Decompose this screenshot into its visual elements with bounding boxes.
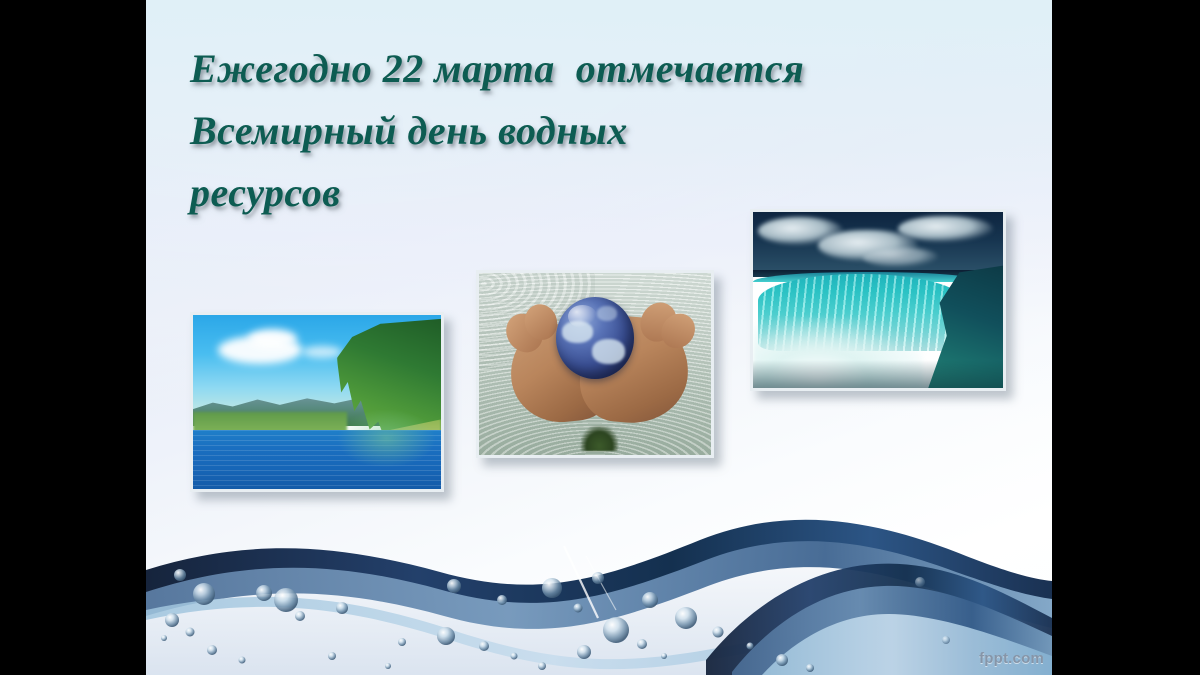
photo-waterfall xyxy=(750,209,1006,391)
title-line-1: Ежегодно 22 марта отмечается xyxy=(190,38,1000,100)
storm-cloud-icon xyxy=(863,247,938,266)
fppt-watermark: fppt.com xyxy=(979,650,1044,667)
globe-icon xyxy=(556,297,635,379)
letterbox-bar-left xyxy=(0,0,146,675)
photo-waterfall-artwork xyxy=(753,212,1003,388)
globe-landmass xyxy=(597,306,618,321)
photo-lake-artwork xyxy=(193,315,441,489)
slide-title: Ежегодно 22 марта отмечается Всемирный д… xyxy=(190,38,1000,224)
slide-canvas: Ежегодно 22 марта отмечается Всемирный д… xyxy=(146,0,1052,675)
sprout-icon xyxy=(581,426,618,451)
lake-cloud-icon xyxy=(248,329,298,348)
title-line-2: Всемирный день водных xyxy=(190,100,1000,162)
photo-hands-globe-artwork xyxy=(479,273,711,455)
storm-cloud-icon xyxy=(898,216,993,242)
waterfall-basin xyxy=(753,360,1003,388)
letterbox-bar-right xyxy=(1052,0,1200,675)
globe-landmass xyxy=(592,339,625,364)
water-wave-decoration xyxy=(146,460,1052,675)
photo-lake xyxy=(190,312,444,492)
slide-viewer: Ежегодно 22 марта отмечается Всемирный д… xyxy=(0,0,1200,675)
photo-hands-globe xyxy=(476,270,714,458)
lake-reflection xyxy=(337,409,436,468)
globe-highlight xyxy=(568,305,596,328)
